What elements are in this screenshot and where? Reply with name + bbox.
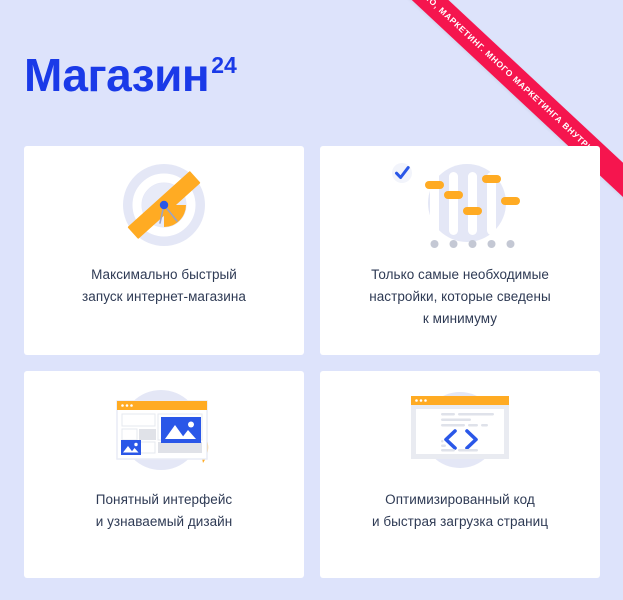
browser-layout-icon [99, 380, 229, 480]
feature-card-grid: Максимально быстрый запуск интернет-мага… [24, 146, 600, 578]
feature-card-clear-interface[interactable]: Понятный интерфейс и узнаваемый дизайн [24, 371, 304, 578]
feature-line: Понятный интерфейс [96, 489, 233, 511]
icon-zone [320, 371, 600, 489]
feature-line: Оптимизированный код [372, 489, 548, 511]
sliders-settings-icon [385, 155, 535, 255]
feature-card-optimized-code[interactable]: Оптимизированный код и быстрая загрузка … [320, 371, 600, 578]
feature-line: и узнаваемый дизайн [96, 511, 233, 533]
feature-line: к минимуму [369, 308, 551, 330]
feature-card-text: Оптимизированный код и быстрая загрузка … [354, 489, 566, 533]
feature-line: Только самые необходимые [369, 264, 551, 286]
icon-zone [320, 146, 600, 264]
feature-line: запуск интернет-магазина [82, 286, 246, 308]
brand-logo-name: Магазин [24, 52, 209, 98]
brand-logo-superscript: 24 [211, 54, 237, 77]
brand-logo: Магазин 24 [24, 52, 237, 98]
feature-card-text: Понятный интерфейс и узнаваемый дизайн [78, 489, 251, 533]
code-window-icon [395, 380, 525, 480]
check-badge-icon [392, 163, 412, 183]
feature-line: и быстрая загрузка страниц [372, 511, 548, 533]
speedometer-icon [104, 155, 224, 255]
feature-line: Максимально быстрый [82, 264, 246, 286]
feature-card-minimal-settings[interactable]: Только самые необходимые настройки, кото… [320, 146, 600, 355]
feature-line: настройки, которые сведены [369, 286, 551, 308]
icon-zone [24, 146, 304, 264]
promo-page: Магазин 24 И, КОНЕЧНО, МАРКЕТИНГ. МНОГО … [0, 0, 623, 600]
icon-zone [24, 371, 304, 489]
feature-card-text: Максимально быстрый запуск интернет-мага… [64, 264, 264, 308]
feature-card-text: Только самые необходимые настройки, кото… [351, 264, 569, 330]
feature-card-fast-launch[interactable]: Максимально быстрый запуск интернет-мага… [24, 146, 304, 355]
